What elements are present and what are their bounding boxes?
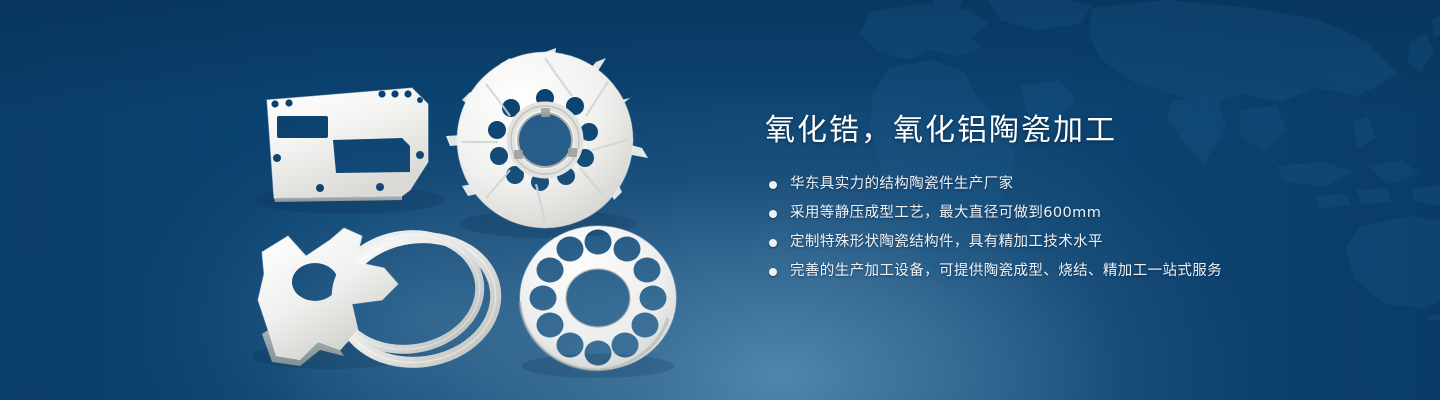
bullet-dot-icon (769, 268, 777, 276)
feature-bullet-list: 华东具实力的结构陶瓷件生产厂家 采用等静压成型工艺，最大直径可做到600mm 定… (769, 174, 1385, 282)
feature-bullet-item: 采用等静压成型工艺，最大直径可做到600mm (769, 203, 1385, 224)
feature-bullet-item: 华东具实力的结构陶瓷件生产厂家 (769, 174, 1385, 195)
feature-bullet-text: 定制特殊形状陶瓷结构件，具有精加工技术水平 (790, 232, 1103, 253)
feature-bullet-text: 完善的生产加工设备，可提供陶瓷成型、烧结、精加工一站式服务 (790, 261, 1222, 282)
bullet-dot-icon (769, 181, 777, 189)
bullet-dot-icon (769, 210, 777, 218)
product-photo-cluster (0, 0, 760, 400)
feature-bullet-item: 定制特殊形状陶瓷结构件，具有精加工技术水平 (769, 232, 1385, 253)
banner-headline: 氧化锆，氧化铝陶瓷加工 (765, 112, 1385, 150)
banner-copy-block: 氧化锆，氧化铝陶瓷加工 华东具实力的结构陶瓷件生产厂家 采用等静压成型工艺，最大… (765, 112, 1385, 290)
feature-bullet-item: 完善的生产加工设备，可提供陶瓷成型、烧结、精加工一站式服务 (769, 261, 1385, 282)
ceramic-perforated-ring (520, 226, 676, 370)
ceramic-flat-plate (267, 88, 428, 202)
feature-bullet-text: 华东具实力的结构陶瓷件生产厂家 (790, 174, 1014, 195)
bullet-dot-icon (769, 239, 777, 247)
hero-banner: 氧化锆，氧化铝陶瓷加工 华东具实力的结构陶瓷件生产厂家 采用等静压成型工艺，最大… (0, 0, 1440, 400)
feature-bullet-text: 采用等静压成型工艺，最大直径可做到600mm (790, 203, 1101, 224)
ceramic-impeller (446, 48, 648, 228)
